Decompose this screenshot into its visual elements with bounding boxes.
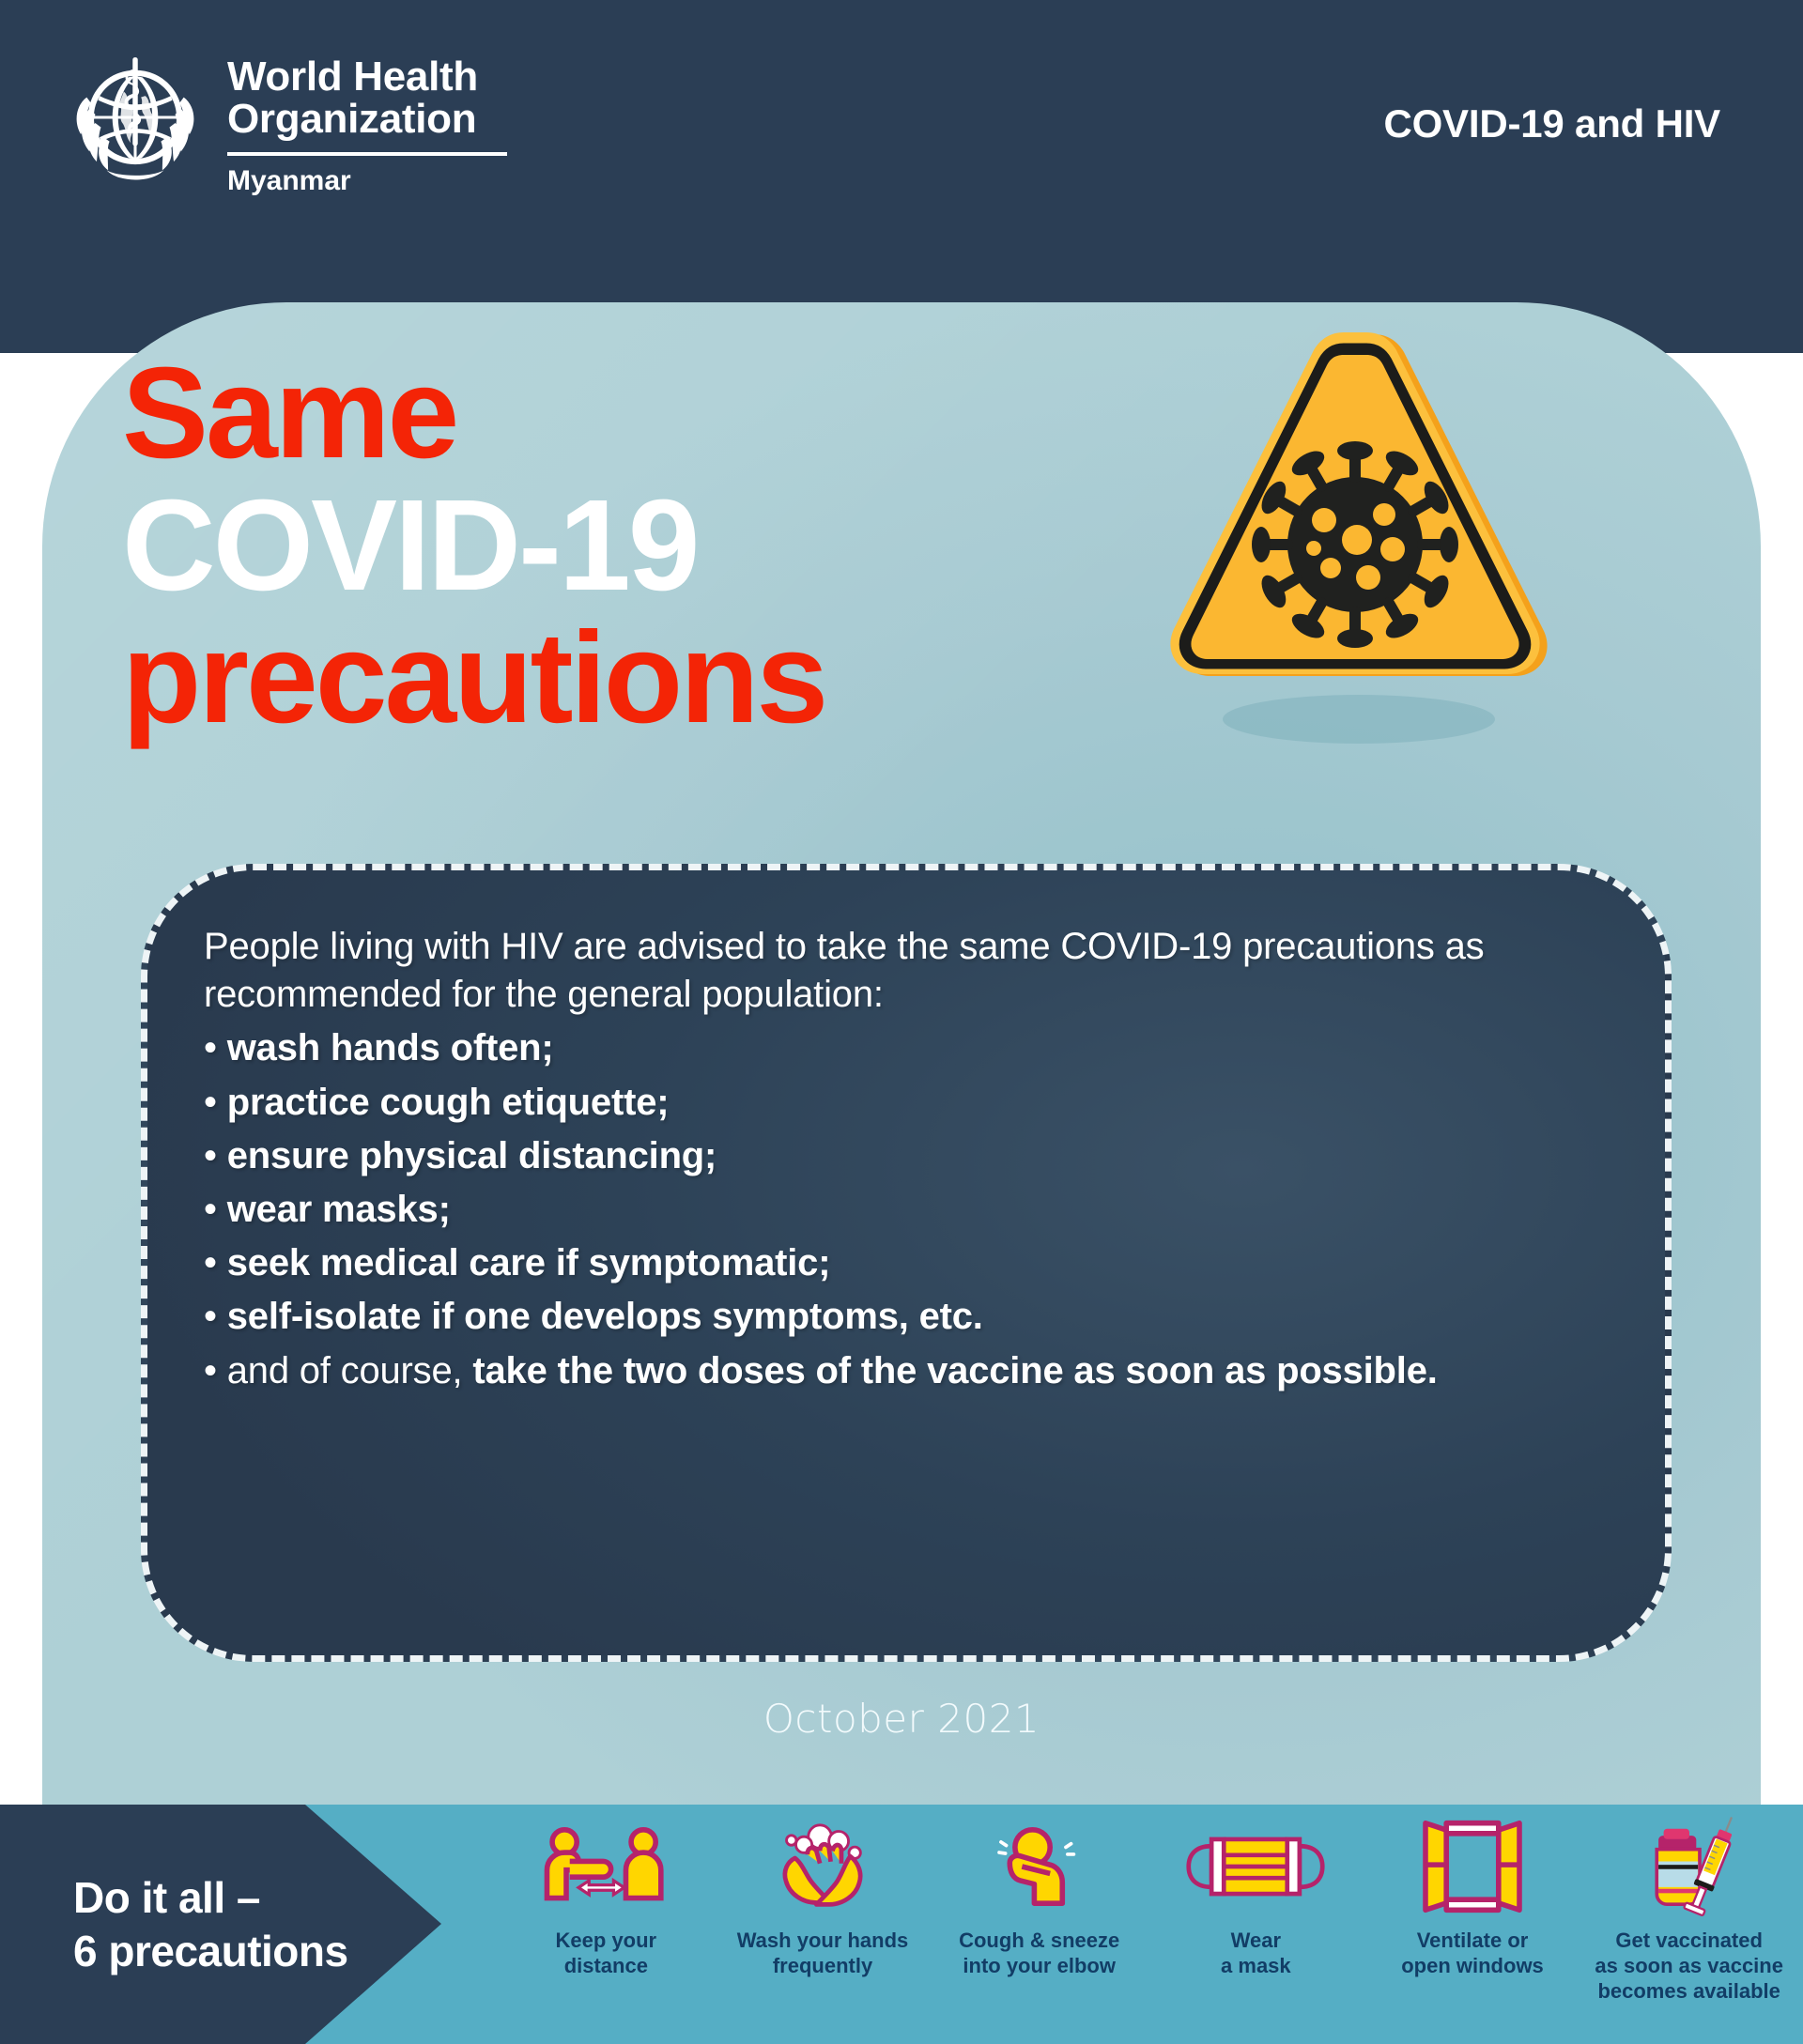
header-topic-label: COVID-19 and HIV [1383, 101, 1720, 146]
bullet-text: wash hands often; [227, 1027, 554, 1068]
precaution-item-ventilate: Ventilate or open windows [1364, 1818, 1581, 1979]
face-mask-icon [1185, 1818, 1326, 1915]
precaution-label-wear-mask: Wear a mask [1221, 1929, 1291, 1979]
callout-bullet-5: • seek medical care if symptomatic; [204, 1239, 1607, 1287]
coronavirus-warning-triangle-icon [1141, 310, 1564, 761]
callout-bullet-7: • and of course, take the two doses of t… [204, 1347, 1607, 1395]
bottom-banner: Do it all – 6 precautions [0, 1805, 1803, 2044]
keep-distance-icon [540, 1818, 671, 1915]
bullet-marker: • [204, 1082, 217, 1123]
label-line-2: open windows [1401, 1954, 1544, 1979]
label-line-1: Cough & sneeze [959, 1929, 1119, 1954]
precaution-label-wash-hands: Wash your hands frequently [737, 1929, 909, 1979]
bullet-text: take the two doses of the vaccine as soo… [472, 1350, 1437, 1391]
label-line-2: a mask [1221, 1954, 1291, 1979]
bullet-marker: • [204, 1242, 217, 1283]
callout-bullet-6: • self-isolate if one develops symptoms,… [204, 1293, 1607, 1341]
publication-date: October 2021 [0, 1696, 1803, 1742]
label-line-2: frequently [737, 1954, 909, 1979]
precaution-icons-row: Keep your distance [498, 1805, 1803, 2044]
bullet-text: ensure physical distancing; [227, 1135, 717, 1176]
bullet-marker: • [204, 1296, 217, 1337]
label-line-2: distance [556, 1954, 657, 1979]
cough-elbow-icon [987, 1818, 1092, 1915]
poster-root: World Health Organization Myanmar COVID-… [0, 0, 1803, 2044]
who-wordmark: World Health Organization Myanmar [227, 49, 507, 197]
bullet-marker: • [204, 1027, 217, 1068]
label-line-2: as soon as vaccine [1595, 1954, 1783, 1979]
callout-bullet-3: • ensure physical distancing; [204, 1132, 1607, 1180]
callout-bullet-2: • practice cough etiquette; [204, 1079, 1607, 1127]
precaution-item-wash-hands: Wash your hands frequently [715, 1818, 932, 1979]
bullet-text: practice cough etiquette; [227, 1082, 670, 1123]
who-line-1: World Health [227, 56, 507, 99]
label-line-1: Keep your [556, 1929, 657, 1954]
headline-line-3: precautions [122, 612, 825, 745]
precaution-label-cough-elbow: Cough & sneeze into your elbow [959, 1929, 1119, 1979]
callout-intro-text: People living with HIV are advised to ta… [204, 923, 1607, 1019]
callout-bullet-1: • wash hands often; [204, 1024, 1607, 1072]
precaution-item-get-vaccinated: Get vaccinated as soon as vaccine become… [1580, 1818, 1797, 2004]
bullet-marker: • [204, 1350, 217, 1391]
bullet-text: self-isolate if one develops symptoms, e… [227, 1296, 983, 1337]
label-line-1: Ventilate or [1401, 1929, 1544, 1954]
wash-hands-icon [764, 1818, 881, 1915]
precautions-callout-box: People living with HIV are advised to ta… [141, 864, 1672, 1662]
callout-bullet-4: • wear masks; [204, 1186, 1607, 1234]
page-header: World Health Organization Myanmar COVID-… [0, 0, 1803, 353]
who-divider [227, 152, 507, 156]
bullet-marker: • [204, 1135, 217, 1176]
who-line-2: Organization [227, 99, 507, 141]
label-line-2: into your elbow [959, 1954, 1119, 1979]
who-emblem-icon [64, 49, 207, 192]
open-window-icon [1420, 1818, 1525, 1915]
cta-line-2: 6 precautions [73, 1925, 441, 1977]
precaution-item-keep-distance: Keep your distance [498, 1818, 715, 1979]
precaution-item-wear-mask: Wear a mask [1148, 1818, 1364, 1979]
label-line-1: Get vaccinated [1595, 1929, 1783, 1954]
precaution-item-cough-elbow: Cough & sneeze into your elbow [931, 1818, 1148, 1979]
do-it-all-arrow: Do it all – 6 precautions [0, 1805, 441, 2044]
page-title: Same COVID-19 precautions [122, 347, 825, 744]
precaution-label-get-vaccinated: Get vaccinated as soon as vaccine become… [1595, 1929, 1783, 2004]
who-country-label: Myanmar [227, 165, 507, 197]
cta-line-1: Do it all – [73, 1871, 441, 1924]
bullet-lead-text: and of course, [227, 1350, 473, 1391]
bullet-text: wear masks; [227, 1189, 451, 1230]
label-line-1: Wear [1221, 1929, 1291, 1954]
who-logo-block: World Health Organization Myanmar [64, 49, 507, 197]
headline-line-1: Same [122, 347, 825, 480]
bullet-text: seek medical care if symptomatic; [227, 1242, 831, 1283]
headline-line-2: COVID-19 [122, 480, 825, 612]
label-line-3: becomes available [1595, 1979, 1783, 2005]
precaution-label-keep-distance: Keep your distance [556, 1929, 657, 1979]
bullet-marker: • [204, 1189, 217, 1230]
precaution-label-ventilate: Ventilate or open windows [1401, 1929, 1544, 1979]
label-line-1: Wash your hands [737, 1929, 909, 1954]
vaccine-syringe-icon [1638, 1818, 1741, 1915]
